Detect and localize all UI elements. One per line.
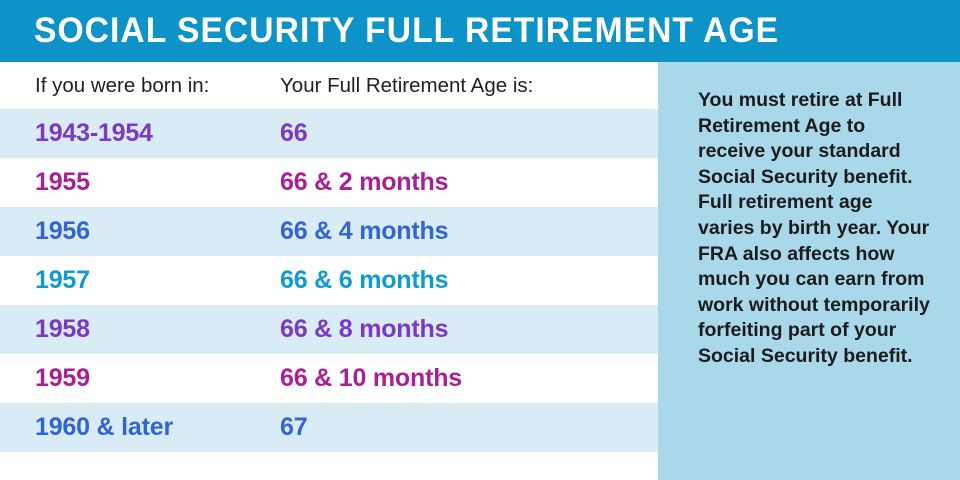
cell-retirement-age: 66 & 8 months	[280, 315, 658, 344]
table-body: 1943-195466195566 & 2 months195666 & 4 m…	[0, 109, 658, 452]
cell-birth-year: 1959	[0, 364, 280, 393]
cell-retirement-age: 67	[280, 413, 658, 442]
table-row: 195866 & 8 months	[0, 305, 658, 354]
page-title: SOCIAL SECURITY FULL RETIREMENT AGE	[34, 11, 779, 51]
table-row: 195766 & 6 months	[0, 256, 658, 305]
table-row: 195566 & 2 months	[0, 158, 658, 207]
note-text: You must retire at Full Retirement Age t…	[698, 88, 930, 370]
infographic-root: SOCIAL SECURITY FULL RETIREMENT AGE If y…	[0, 0, 960, 480]
header-band: SOCIAL SECURITY FULL RETIREMENT AGE	[0, 0, 960, 62]
cell-retirement-age: 66 & 4 months	[280, 217, 658, 246]
table-header-row: If you were born in: Your Full Retiremen…	[0, 62, 658, 109]
column-header-birth-year: If you were born in:	[0, 74, 280, 98]
table-row: 1960 & later67	[0, 403, 658, 452]
cell-birth-year: 1960 & later	[0, 413, 280, 442]
note-panel: You must retire at Full Retirement Age t…	[658, 62, 960, 480]
cell-birth-year: 1956	[0, 217, 280, 246]
table-row: 195666 & 4 months	[0, 207, 658, 256]
cell-birth-year: 1943-1954	[0, 119, 280, 148]
cell-birth-year: 1957	[0, 266, 280, 295]
retirement-age-table: If you were born in: Your Full Retiremen…	[0, 62, 658, 480]
table-row: 195966 & 10 months	[0, 354, 658, 403]
column-header-retirement-age: Your Full Retirement Age is:	[280, 74, 658, 98]
cell-retirement-age: 66 & 2 months	[280, 168, 658, 197]
cell-birth-year: 1955	[0, 168, 280, 197]
cell-retirement-age: 66	[280, 119, 658, 148]
table-row: 1943-195466	[0, 109, 658, 158]
cell-birth-year: 1958	[0, 315, 280, 344]
cell-retirement-age: 66 & 10 months	[280, 364, 658, 393]
cell-retirement-age: 66 & 6 months	[280, 266, 658, 295]
